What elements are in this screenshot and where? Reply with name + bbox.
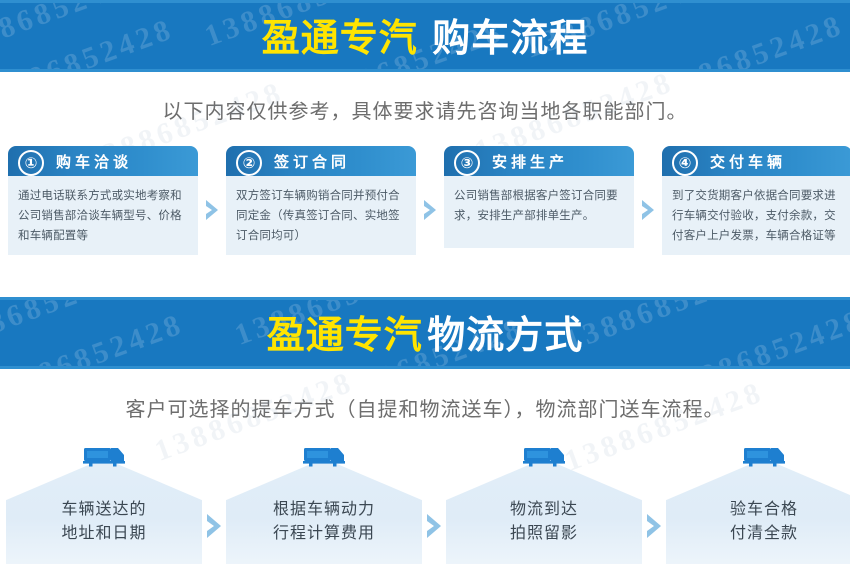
step-body-text: 双方签订车辆购销合同并预付合同定金（传真签订合同、实地签订合同均可）: [226, 176, 416, 255]
truck-icon: [521, 444, 567, 470]
step-card-1[interactable]: ① 购车洽谈 通过电话联系方式或实地考察和公司销售部洽谈车辆型号、价格和车辆配置…: [8, 146, 198, 255]
logistics-card-3[interactable]: 物流到达 拍照留影: [446, 444, 642, 564]
logistics-card-line1: 物流到达: [510, 497, 578, 522]
step-title: 签订合同: [274, 151, 350, 172]
purchase-banner: 13886852428 13886852428 13886852428 1388…: [0, 0, 850, 72]
step-arrow-1: [198, 146, 226, 255]
logistics-card-text: 验车合格 付清全款: [730, 497, 798, 547]
step-number-badge: ②: [236, 150, 262, 176]
step-card-4[interactable]: ④ 交付车辆 到了交货期客户依据合同要求进行车辆交付验收，支付余款，交付客户上户…: [662, 146, 850, 255]
step-arrow-2: [416, 146, 444, 255]
step-title: 安排生产: [492, 151, 568, 172]
step-header: ③ 安排生产: [444, 146, 634, 176]
step-number-badge: ③: [454, 150, 480, 176]
step-title: 购车洽谈: [56, 151, 132, 172]
step-arrow-3: [634, 146, 662, 255]
logistics-card-line1: 验车合格: [730, 497, 798, 522]
logistics-card-line2: 拍照留影: [510, 521, 578, 546]
chevron-right-icon: [645, 513, 663, 539]
truck-icon: [81, 444, 127, 470]
logistics-card-line2: 行程计算费用: [273, 521, 375, 546]
chevron-right-icon: [425, 513, 443, 539]
chevron-right-icon: [204, 199, 220, 221]
logistics-arrow-3: [642, 444, 666, 564]
logistics-cards-row: 车辆送达的 地址和日期 根据车辆动力 行程计算费用: [0, 444, 850, 564]
purchase-banner-title: 购车流程: [432, 19, 588, 57]
step-title: 交付车辆: [710, 151, 786, 172]
logistics-arrow-1: [202, 444, 226, 564]
step-card-2[interactable]: ② 签订合同 双方签订车辆购销合同并预付合同定金（传真签订合同、实地签订合同均可…: [226, 146, 416, 255]
step-header: ① 购车洽谈: [8, 146, 198, 176]
logistics-card-text: 根据车辆动力 行程计算费用: [273, 497, 375, 547]
step-body-text: 公司销售部根据客户签订合同要求，安排生产部排单生产。: [444, 176, 634, 248]
logistics-card-1[interactable]: 车辆送达的 地址和日期: [6, 444, 202, 564]
step-number-badge: ①: [18, 150, 44, 176]
logistics-card-line2: 付清全款: [730, 521, 798, 546]
logistics-card-line2: 地址和日期: [61, 521, 146, 546]
step-number-badge: ④: [672, 150, 698, 176]
logistics-card-line1: 车辆送达的: [61, 497, 146, 522]
logistics-banner-title: 物流方式: [427, 316, 583, 354]
step-header: ④ 交付车辆: [662, 146, 850, 176]
logistics-card-shape: 验车合格 付清全款: [666, 458, 850, 564]
logistics-card-text: 物流到达 拍照留影: [510, 497, 578, 547]
logistics-card-shape: 车辆送达的 地址和日期: [6, 458, 202, 564]
logistics-card-shape: 物流到达 拍照留影: [446, 458, 642, 564]
purchase-steps-row: ① 购车洽谈 通过电话联系方式或实地考察和公司销售部洽谈车辆型号、价格和车辆配置…: [0, 146, 850, 255]
step-card-3[interactable]: ③ 安排生产 公司销售部根据客户签订合同要求，安排生产部排单生产。: [444, 146, 634, 255]
logistics-card-text: 车辆送达的 地址和日期: [61, 497, 146, 547]
logistics-subtitle: 客户可选择的提车方式（自提和物流送车），物流部门送车流程。: [0, 393, 850, 422]
purchase-subtitle: 以下内容仅供参考，具体要求请先咨询当地各职能部门。: [0, 95, 850, 124]
logistics-banner-brand: 盈通专汽: [267, 316, 423, 354]
logistics-banner: 13886852428 13886852428 13886852428 1388…: [0, 297, 850, 369]
step-body-text: 通过电话联系方式或实地考察和公司销售部洽谈车辆型号、价格和车辆配置等: [8, 176, 198, 255]
logistics-card-line1: 根据车辆动力: [273, 497, 375, 522]
chevron-right-icon: [422, 199, 438, 221]
logistics-card-4[interactable]: 验车合格 付清全款: [666, 444, 850, 564]
step-header: ② 签订合同: [226, 146, 416, 176]
step-body-text: 到了交货期客户依据合同要求进行车辆交付验收，支付余款，交付客户上户发票，车辆合格…: [662, 176, 850, 255]
promo-page: 13886852428 13886852428 13886852428 1388…: [0, 0, 850, 564]
chevron-right-icon: [205, 513, 223, 539]
truck-icon: [741, 444, 787, 470]
chevron-right-icon: [640, 199, 656, 221]
purchase-banner-brand: 盈通专汽: [262, 19, 418, 57]
logistics-arrow-2: [422, 444, 446, 564]
logistics-card-2[interactable]: 根据车辆动力 行程计算费用: [226, 444, 422, 564]
truck-icon: [301, 444, 347, 470]
logistics-card-shape: 根据车辆动力 行程计算费用: [226, 458, 422, 564]
